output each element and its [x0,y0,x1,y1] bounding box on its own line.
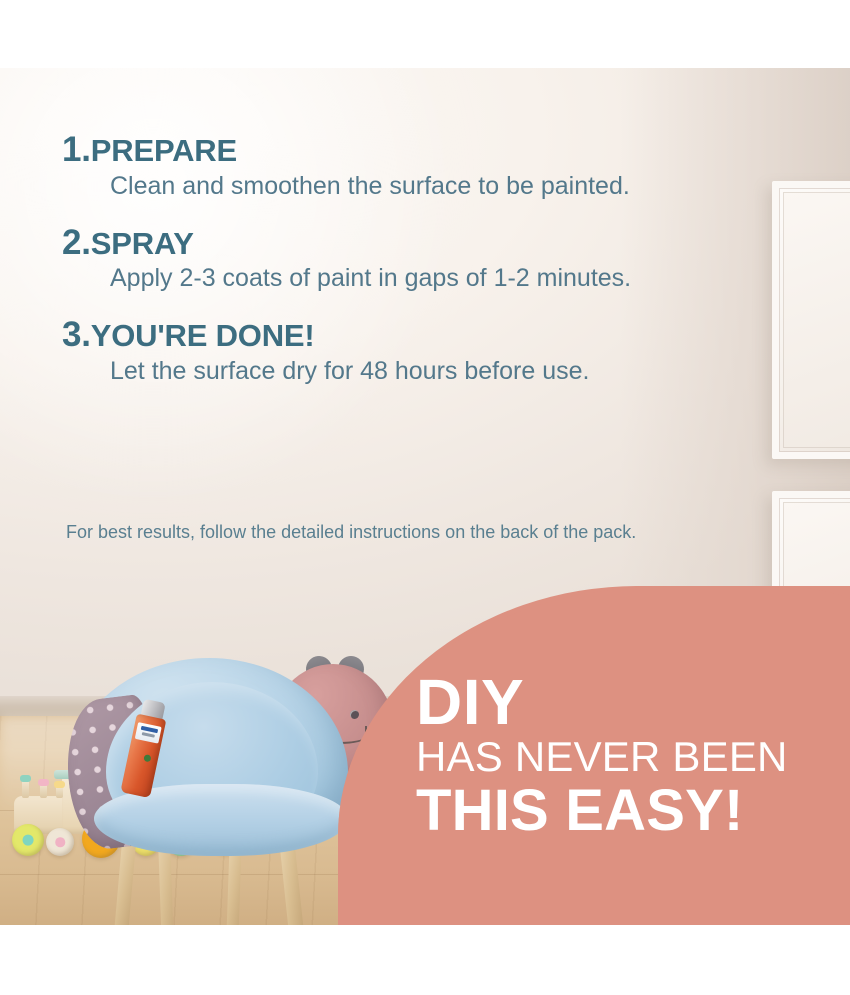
banner-line-this-easy: THIS EASY! [416,782,850,840]
banner-line-has-never: HAS NEVER BEEN [416,736,850,778]
step-1: 1.PREPARE Clean and smoothen the surface… [62,132,792,201]
step-2: 2.SPRAY Apply 2-3 coats of paint in gaps… [62,225,792,294]
frame-mat-upper [783,192,850,448]
train-wheel [12,824,44,856]
step-3-number: 3. [62,315,91,354]
step-2-number: 2. [62,223,91,262]
step-3-title: 3.YOU'RE DONE! [62,317,792,354]
step-1-description: Clean and smoothen the surface to be pai… [110,172,792,201]
train-smokestack [40,784,47,798]
step-3: 3.YOU'RE DONE! Let the surface dry for 4… [62,317,792,386]
banner-text-block: DIY HAS NEVER BEEN THIS EASY! [416,670,850,840]
step-2-heading: SPRAY [91,226,194,261]
train-smokestack [22,780,29,798]
step-1-heading: PREPARE [91,133,237,168]
step-2-title: 2.SPRAY [62,225,792,262]
step-3-heading: YOU'RE DONE! [91,318,315,353]
chair-seat-cushion [94,784,348,856]
tub-chair [62,658,362,925]
best-results-note: For best results, follow the detailed in… [66,519,646,545]
step-3-description: Let the surface dry for 48 hours before … [110,357,792,386]
step-1-number: 1. [62,130,91,169]
step-1-title: 1.PREPARE [62,132,792,169]
banner-line-diy: DIY [416,670,850,734]
step-2-description: Apply 2-3 coats of paint in gaps of 1-2 … [110,264,792,293]
instruction-steps: 1.PREPARE Clean and smoothen the surface… [62,132,792,386]
chair-leg [113,836,136,925]
poster-canvas: DIY HAS NEVER BEEN THIS EASY! 1.PREPARE … [0,0,850,995]
